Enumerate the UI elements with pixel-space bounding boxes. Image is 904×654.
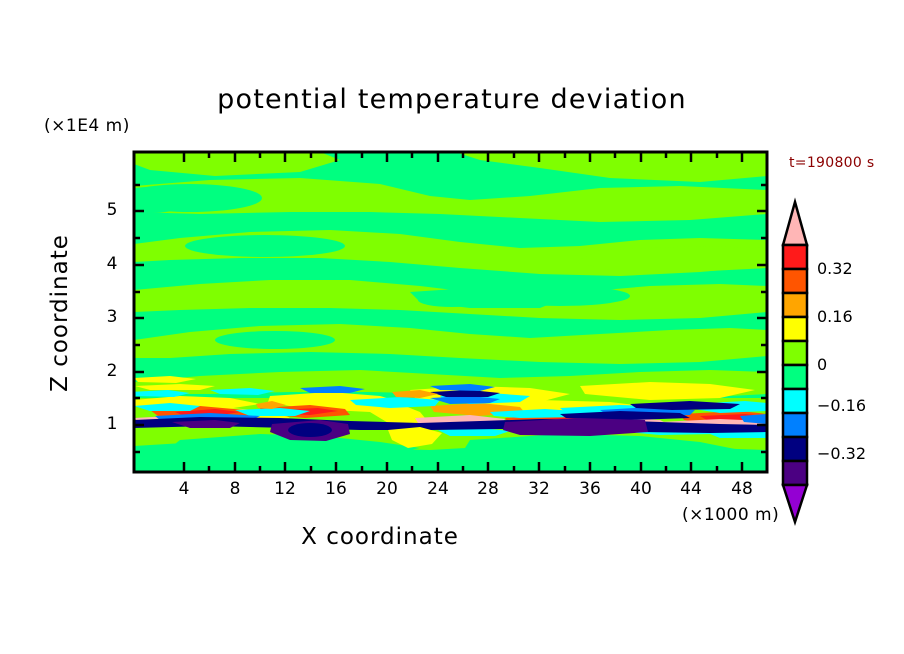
colorbar-under-arrow bbox=[783, 485, 807, 522]
y-tick-label: 4 bbox=[100, 254, 124, 274]
colorbar-tick-label: 0.32 bbox=[817, 259, 853, 278]
colorbar-over-arrow bbox=[783, 202, 807, 245]
figure-canvas: potential temperature deviation (×1E4 m)… bbox=[0, 0, 904, 654]
x-tick-label: 44 bbox=[671, 479, 711, 499]
x-tick-label: 4 bbox=[164, 479, 204, 499]
y-tick-label: 3 bbox=[100, 307, 124, 327]
x-tick-label: 8 bbox=[215, 479, 255, 499]
x-tick-label: 24 bbox=[418, 479, 458, 499]
x-tick-label: 16 bbox=[316, 479, 356, 499]
colorbar-bands bbox=[783, 245, 807, 485]
x-tick-label: 20 bbox=[367, 479, 407, 499]
y-tick-label: 5 bbox=[100, 200, 124, 220]
colorbar bbox=[783, 202, 807, 522]
y-tick-label: 2 bbox=[100, 361, 124, 381]
colorbar-tick-label: 0 bbox=[817, 355, 827, 374]
x-tick-label: 48 bbox=[722, 479, 762, 499]
contour-plot bbox=[0, 0, 904, 654]
colorbar-tick-label: −0.32 bbox=[817, 444, 866, 463]
x-tick-label: 12 bbox=[265, 479, 305, 499]
x-tick-label: 28 bbox=[468, 479, 508, 499]
x-tick-label: 40 bbox=[621, 479, 661, 499]
colorbar-tick-label: 0.16 bbox=[817, 307, 853, 326]
x-tick-label: 32 bbox=[519, 479, 559, 499]
y-tick-label: 1 bbox=[100, 414, 124, 434]
x-tick-label: 36 bbox=[570, 479, 610, 499]
colorbar-tick-label: −0.16 bbox=[817, 396, 866, 415]
